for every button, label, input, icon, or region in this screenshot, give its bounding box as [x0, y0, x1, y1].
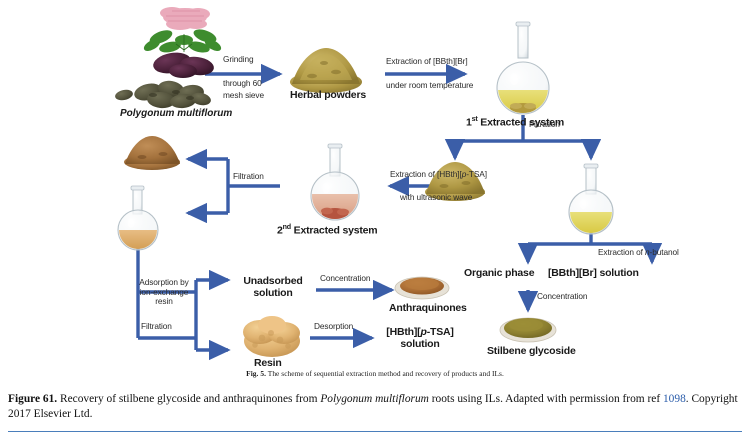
bottom-divider: [8, 431, 742, 432]
fig5-caption: Fig. 5. The scheme of sequential extract…: [0, 369, 750, 378]
caption-species: Polygonum multiflorum: [320, 393, 429, 405]
diagram-graphics: [0, 0, 750, 368]
anthraquinones-image: [395, 277, 449, 299]
second-ordinal-suffix: nd: [283, 223, 291, 231]
label-herbal-powders: Herbal powders: [290, 89, 366, 101]
second-residue-powder-image: [124, 136, 180, 170]
label-organic-phase: Organic phase: [464, 267, 534, 279]
second-extracted-system-text: Extracted system: [294, 225, 378, 237]
reference-link[interactable]: 1098: [663, 393, 686, 405]
arrowlabel-desorption: Desorption: [314, 322, 353, 332]
stilbene-glycoside-image: [500, 318, 556, 342]
label-unadsorbed-solution: Unadsorbedsolution: [231, 275, 315, 299]
polygonum-plant-image: [114, 7, 223, 109]
label-second-extracted-system: 2nd Extracted system: [277, 223, 377, 237]
hbth-line2: solution: [400, 338, 439, 350]
arrowlabel-grinding-line3: mesh sieve: [223, 91, 264, 101]
first-ordinal-suffix: st: [472, 115, 478, 123]
filtrate-flask-yellow: [568, 164, 614, 236]
label-resin: Resin: [254, 357, 282, 369]
arrowlabel-adsorption: Adsorption byion-exchangeresin: [126, 278, 202, 307]
arrowlabel-extraction-hbth-line2: with ultrasonic wave: [400, 193, 472, 203]
arrowlabel-extraction-bbth-line1: Extraction of [BBth][Br]: [386, 57, 468, 67]
arrowlabel-filtration-2: Filtration: [233, 172, 264, 182]
unadsorbed-line2: solution: [253, 287, 292, 299]
arrowlabel-extraction-hbth-line1: Extraction of [HBth][p-TSA]: [390, 170, 487, 180]
label-polygonum-multiflorum: Polygonum multiflorum: [120, 108, 232, 120]
fig5-label: Fig. 5.: [246, 369, 266, 378]
caption-part2: roots using ILs. Adapted with permission…: [429, 393, 663, 405]
herbal-powders-image: [290, 48, 362, 93]
figure-caption: Figure 61. Recovery of stilbene glycosid…: [8, 392, 742, 422]
unadsorbed-line1: Unadsorbed: [243, 275, 302, 287]
arrowlabel-grinding-line1: Grinding: [223, 55, 254, 65]
process-flow-diagram: Polygonum multiflorum Herbal powders 1st…: [0, 0, 750, 368]
label-stilbene-glycoside: Stilbene glycoside: [487, 345, 576, 357]
label-bbth-br-solution: [BBth][Br] solution: [548, 267, 639, 279]
arrowlabel-extraction-butanol: Extraction of n-butanol: [598, 248, 679, 258]
arrowlabel-filtration-3: Filtration: [141, 322, 172, 332]
first-extracted-system-flask: [497, 22, 549, 116]
arrowlabel-filtration-1: Filtration: [529, 120, 560, 130]
unadsorbed-feed-flask: [117, 186, 159, 252]
label-hbth-ptsa-solution: [HBth][p-TSA]solution: [372, 326, 468, 350]
hbth-line1: [HBth][p-TSA]: [386, 326, 453, 338]
caption-part1: Recovery of stilbene glycoside and anthr…: [57, 393, 320, 405]
second-extracted-system-flask: [310, 144, 360, 220]
resin-image: [243, 316, 300, 357]
label-anthraquinones: Anthraquinones: [389, 302, 467, 314]
arrowlabel-extraction-bbth-line2: under room temperature: [386, 81, 473, 91]
arrowlabel-concentration-anthraquinones: Concentration: [320, 274, 370, 284]
arrowlabel-grinding-line2: through 60: [223, 79, 262, 89]
arrowlabel-concentration-stilbene: Concentration: [537, 292, 587, 302]
fig5-text: The scheme of sequential extraction meth…: [266, 369, 504, 378]
figure-number: Figure 61.: [8, 393, 57, 405]
